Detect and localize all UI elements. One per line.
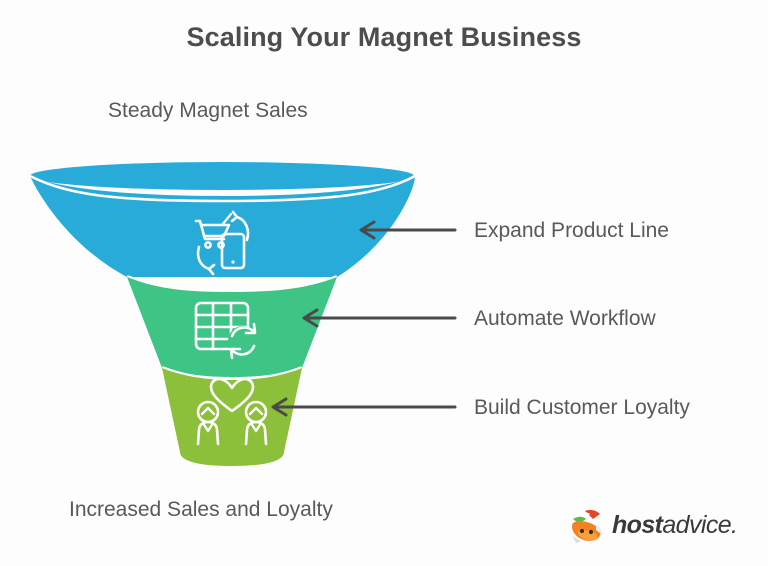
logo-word-bold: host	[612, 511, 662, 539]
logo-word-light: advice.	[662, 511, 737, 539]
infographic-canvas: Scaling Your Magnet Business Steady Magn…	[0, 0, 768, 566]
stage-label-automate-workflow: Automate Workflow	[474, 307, 656, 331]
pointer-arrow-2	[273, 399, 455, 415]
funnel-stage-2[interactable]	[162, 368, 302, 466]
funnel-stage-0[interactable]	[30, 162, 415, 292]
funnel-stage-2-body	[162, 368, 302, 466]
stage-label-expand-product-line: Expand Product Line	[474, 219, 669, 243]
stage-label-build-customer-loyalty: Build Customer Loyalty	[474, 396, 690, 420]
hostadvice-logo[interactable]: hostadvice.	[566, 503, 742, 547]
funnel-rim-ellipse	[30, 162, 414, 190]
hostadvice-fox-icon	[566, 504, 608, 546]
funnel-graphic	[0, 0, 768, 566]
hostadvice-wordmark: hostadvice.	[612, 511, 737, 540]
funnel-bottom-caption: Increased Sales and Loyalty	[69, 498, 333, 522]
pointer-arrow-1	[304, 310, 455, 326]
